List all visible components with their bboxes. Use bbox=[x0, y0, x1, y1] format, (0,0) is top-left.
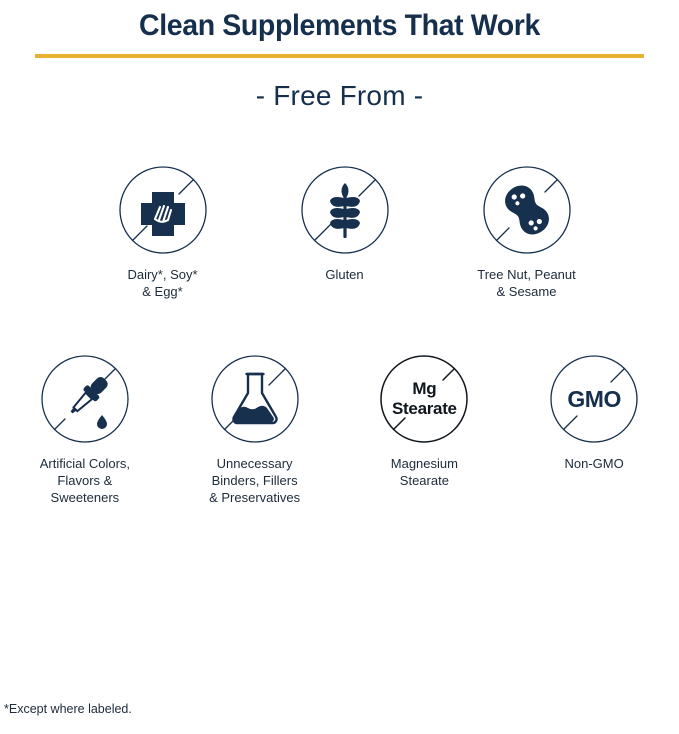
item-label: Gluten bbox=[325, 266, 363, 283]
free-from-item-dairy-soy-egg: Dairy*, Soy* & Egg* bbox=[72, 166, 254, 300]
free-from-item-magnesium-stearate: Mg Stearate Magnesium Stearate bbox=[340, 355, 510, 489]
free-from-item-gluten: Gluten bbox=[254, 166, 436, 283]
item-label: Unnecessary Binders, Fillers & Preservat… bbox=[209, 455, 300, 506]
mg-stearate-text-icon: Mg Stearate bbox=[380, 355, 468, 443]
free-from-item-binders-fillers-preservatives: Unnecessary Binders, Fillers & Preservat… bbox=[170, 355, 340, 506]
page-title: Clean Supplements That Work bbox=[17, 4, 662, 48]
free-from-item-artificial-colors-flavors-sweeteners: Artificial Colors, Flavors & Sweeteners bbox=[0, 355, 170, 506]
header: Clean Supplements That Work - Free From … bbox=[0, 0, 679, 114]
icon-row-1: Dairy*, Soy* & Egg* bbox=[0, 166, 679, 300]
item-label: Non-GMO bbox=[565, 455, 624, 472]
free-from-item-tree-nut-peanut-sesame: Tree Nut, Peanut & Sesame bbox=[436, 166, 618, 300]
footnote: *Except where labeled. bbox=[4, 702, 132, 716]
icon-row-2: Artificial Colors, Flavors & Sweeteners … bbox=[0, 355, 679, 506]
peanut-icon bbox=[483, 166, 571, 254]
item-label: Tree Nut, Peanut & Sesame bbox=[477, 266, 576, 300]
wheat-stalk-icon bbox=[301, 166, 389, 254]
flask-icon bbox=[211, 355, 299, 443]
eyedropper-icon bbox=[41, 355, 129, 443]
free-from-icon-grid: Dairy*, Soy* & Egg* bbox=[0, 166, 679, 506]
gmo-text-icon: GMO bbox=[550, 355, 638, 443]
free-from-item-non-gmo: GMO Non-GMO bbox=[509, 355, 679, 472]
medical-cross-icon bbox=[119, 166, 207, 254]
item-label: Magnesium Stearate bbox=[391, 455, 458, 489]
item-label: Artificial Colors, Flavors & Sweeteners bbox=[40, 455, 130, 506]
page-subtitle: - Free From - bbox=[0, 58, 679, 114]
item-label: Dairy*, Soy* & Egg* bbox=[127, 266, 197, 300]
